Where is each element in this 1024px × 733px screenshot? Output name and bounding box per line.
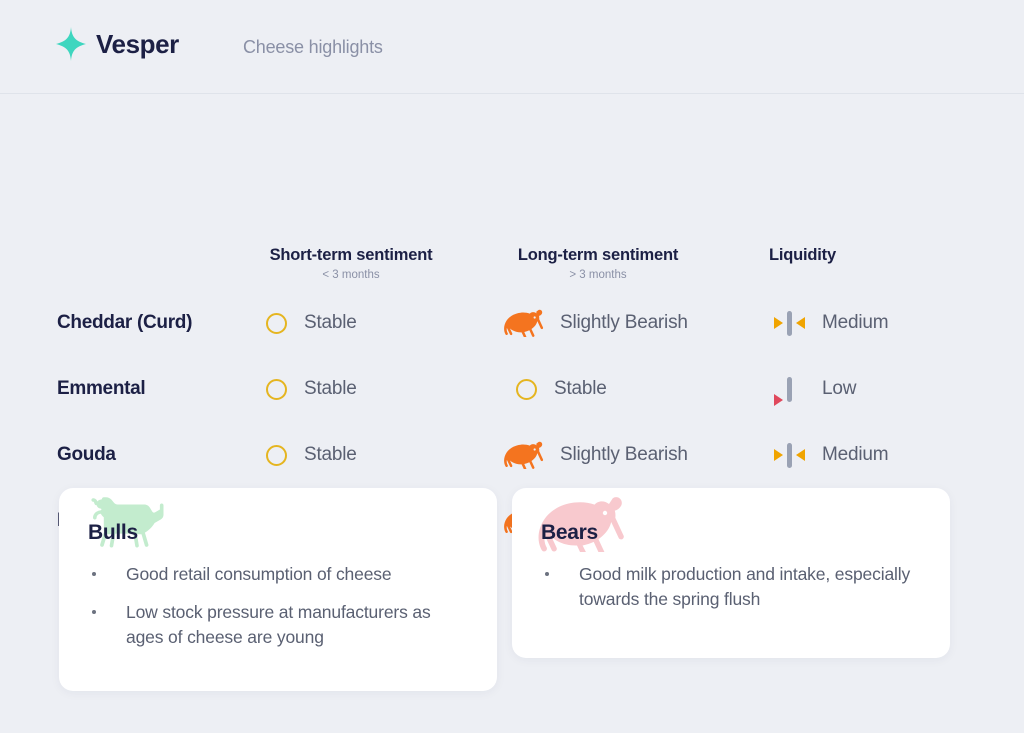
column-header-subtitle: > 3 months — [500, 269, 696, 281]
bears-points-list: Good milk production and intake, especia… — [512, 550, 950, 612]
stable-circle-icon — [266, 374, 290, 404]
bulls-card-header: Bulls — [59, 488, 497, 550]
column-header-short-term: Short-term sentiment < 3 months — [251, 246, 451, 281]
row-label-product: Cheddar (Curd) — [57, 303, 192, 343]
stable-circle-icon — [266, 440, 290, 470]
cell-value: Stable — [554, 378, 607, 400]
app-header: Vesper Cheese highlights — [0, 0, 1024, 94]
cell-value: Stable — [304, 312, 357, 334]
column-header-subtitle: < 3 months — [251, 269, 451, 281]
column-header-title: Liquidity — [769, 246, 929, 265]
cell-short-term: Stable — [266, 435, 357, 475]
bulls-points-list: Good retail consumption of cheese Low st… — [59, 550, 497, 650]
cell-liquidity: Medium — [770, 435, 888, 475]
cell-value: Slightly Bearish — [560, 444, 688, 466]
column-header-title: Short-term sentiment — [251, 246, 451, 265]
bears-card: Bears Good milk production and intake, e… — [512, 488, 950, 658]
cell-long-term: Slightly Bearish — [502, 303, 688, 343]
bears-card-header: Bears — [512, 488, 950, 550]
stable-circle-icon — [266, 308, 290, 338]
liquidity-medium-icon — [770, 438, 808, 472]
bears-card-title: Bears — [541, 521, 598, 545]
liquidity-low-icon — [770, 372, 808, 406]
cell-value: Stable — [304, 378, 357, 400]
row-label-product: Gouda — [57, 435, 116, 475]
list-item: Good milk production and intake, especia… — [543, 562, 924, 612]
column-header-long-term: Long-term sentiment > 3 months — [500, 246, 696, 281]
cell-short-term: Stable — [266, 369, 357, 409]
page-subtitle: Cheese highlights — [243, 37, 383, 58]
bear-icon — [502, 440, 546, 470]
list-item: Low stock pressure at manufacturers as a… — [90, 600, 471, 650]
cell-value: Low — [822, 378, 856, 400]
cell-long-term: Slightly Bearish — [502, 435, 688, 475]
liquidity-medium-icon — [770, 306, 808, 340]
bulls-card: Bulls Good retail consumption of cheese … — [59, 488, 497, 691]
cell-liquidity: Medium — [770, 303, 888, 343]
stable-circle-icon — [516, 374, 540, 404]
column-header-title: Long-term sentiment — [500, 246, 696, 265]
cell-liquidity: Low — [770, 369, 856, 409]
sparkle-star-icon — [56, 27, 86, 61]
table-row: Cheddar (Curd) Stable Slightly Bearish M… — [0, 303, 1024, 343]
cell-value: Medium — [822, 312, 888, 334]
cell-value: Slightly Bearish — [560, 312, 688, 334]
cell-short-term: Stable — [266, 303, 357, 343]
cell-value: Stable — [304, 444, 357, 466]
table-row: Emmental Stable Stable Low — [0, 369, 1024, 409]
brand-name: Vesper — [96, 29, 179, 60]
cell-value: Medium — [822, 444, 888, 466]
bear-icon — [502, 308, 546, 338]
bulls-card-title: Bulls — [88, 521, 138, 545]
list-item: Good retail consumption of cheese — [90, 562, 471, 587]
brand-lockup[interactable]: Vesper — [56, 27, 179, 61]
row-label-product: Emmental — [57, 369, 145, 409]
table-row: Gouda Stable Slightly Bearish Medium — [0, 435, 1024, 475]
cell-long-term: Stable — [516, 369, 607, 409]
column-header-liquidity: Liquidity — [769, 246, 929, 265]
